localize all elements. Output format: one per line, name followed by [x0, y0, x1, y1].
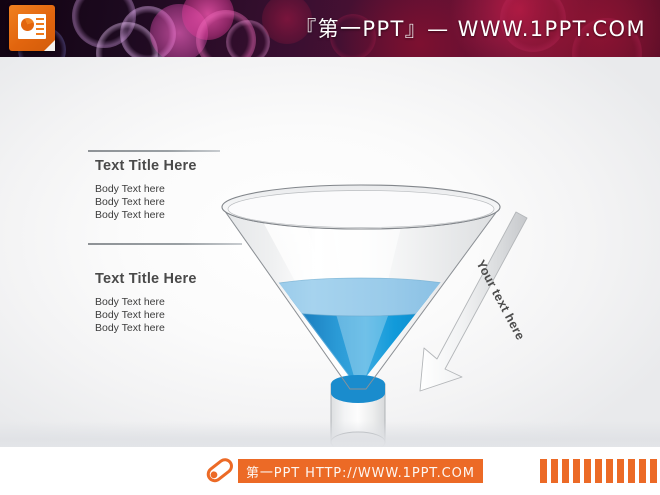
- logo-line: [36, 18, 44, 20]
- logo-line: [36, 23, 44, 25]
- bokeh-circle: [120, 6, 176, 57]
- bokeh-circle: [196, 10, 256, 57]
- footer-url-bar[interactable]: 第一PPT HTTP://WWW.1PPT.COM: [238, 459, 483, 483]
- footer-url-text: 第一PPT HTTP://WWW.1PPT.COM: [246, 462, 475, 481]
- bokeh-circle: [96, 22, 158, 57]
- powerpoint-logo-icon: [9, 5, 55, 51]
- header-banner: 『第一PPT』— WWW.1PPT.COM: [0, 0, 660, 57]
- footer-bar-area: 第一PPT HTTP://WWW.1PPT.COM: [0, 447, 660, 495]
- slide-canvas: 『第一PPT』— WWW.1PPT.COM Text Title Here Bo…: [0, 0, 660, 495]
- bokeh-circle: [72, 0, 136, 48]
- logo-pie-chart: [21, 18, 34, 31]
- funnel-diagram: Your text here: [0, 57, 660, 447]
- bokeh-circle: [150, 4, 208, 57]
- logo-fold: [44, 40, 55, 51]
- header-title: 『第一PPT』— WWW.1PPT.COM: [295, 13, 646, 43]
- logo-line: [36, 33, 44, 35]
- bokeh-circle: [182, 0, 234, 40]
- slide-body: Text Title Here Body Text here Body Text…: [0, 57, 660, 447]
- pen-icon: [200, 455, 240, 489]
- footer-stripes: [540, 459, 660, 483]
- funnel-rim: [222, 185, 500, 229]
- logo-line: [36, 28, 44, 30]
- bokeh-circle: [226, 20, 270, 57]
